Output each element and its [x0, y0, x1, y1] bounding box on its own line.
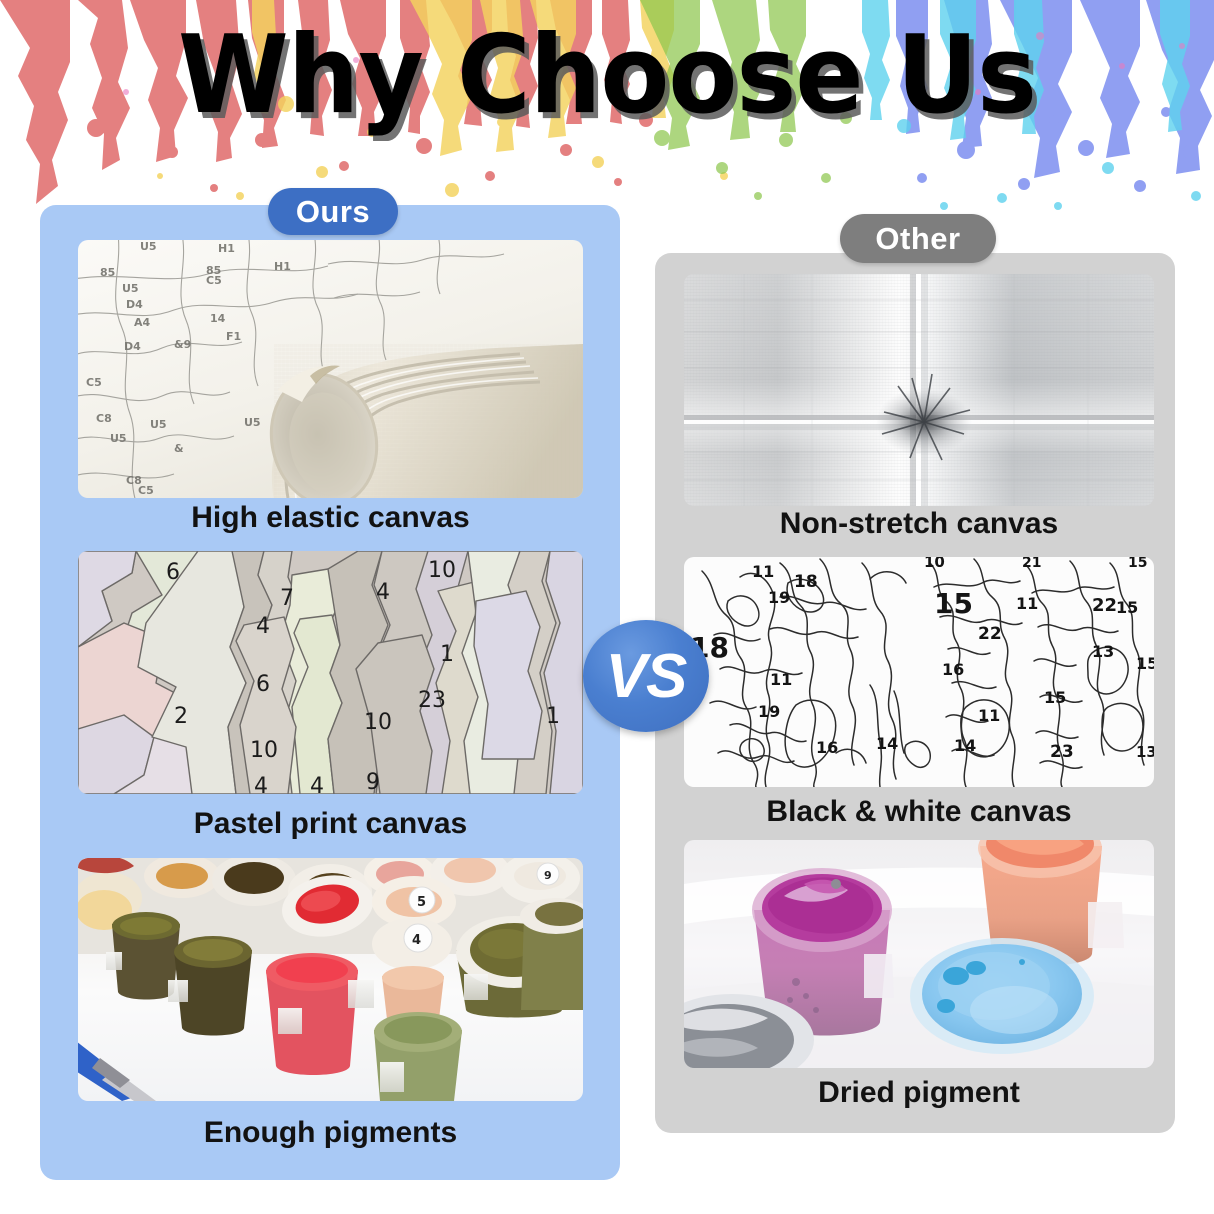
svg-text:1: 1 [440, 642, 454, 667]
svg-text:C8: C8 [96, 412, 112, 425]
badge-other: Other [840, 214, 996, 263]
svg-text:22: 22 [1092, 595, 1117, 616]
svg-text:14: 14 [210, 312, 226, 325]
svg-text:10: 10 [364, 710, 392, 735]
svg-text:14: 14 [954, 736, 976, 755]
svg-text:&9: &9 [174, 338, 191, 351]
infographic-canvas: Why Choose Us [0, 0, 1214, 1214]
svg-text:4: 4 [376, 580, 390, 605]
svg-text:4: 4 [256, 614, 270, 639]
svg-text:6: 6 [166, 560, 180, 585]
svg-text:1: 1 [546, 704, 560, 729]
svg-text:19: 19 [768, 588, 790, 607]
svg-text:F1: F1 [226, 330, 241, 343]
svg-text:D4: D4 [126, 298, 143, 311]
badge-ours: Ours [268, 188, 398, 235]
svg-text:U5: U5 [244, 416, 261, 429]
svg-text:13: 13 [1136, 743, 1154, 761]
svg-text:14: 14 [876, 734, 898, 753]
page-title: Why Choose Us [42, 22, 1171, 130]
svg-text:23: 23 [418, 688, 446, 713]
svg-text:85: 85 [100, 266, 115, 279]
svg-text:H1: H1 [218, 242, 235, 255]
svg-text:U5: U5 [150, 418, 167, 431]
image-pastel-print-canvas: 6 4 7 6 2 10 4 4 4 10 9 10 1 23 1 [78, 551, 583, 794]
svg-text:23: 23 [1050, 742, 1074, 762]
image-full-paint-pots: 9 [78, 858, 583, 1101]
caption-high-elastic-canvas: High elastic canvas [78, 503, 583, 533]
image-wrinkled-canvas [684, 274, 1154, 506]
image-dried-paint-pots [684, 840, 1154, 1068]
svg-text:6: 6 [256, 672, 270, 697]
svg-text:A4: A4 [134, 316, 151, 329]
vs-badge: VS [583, 620, 709, 732]
caption-non-stretch-canvas: Non-stretch canvas [684, 509, 1154, 539]
svg-text:15: 15 [1136, 654, 1154, 673]
svg-text:11: 11 [770, 670, 792, 689]
svg-text:C5: C5 [138, 484, 154, 497]
svg-text:U5: U5 [110, 432, 127, 445]
svg-text:15: 15 [1128, 557, 1147, 571]
svg-text:11: 11 [752, 562, 774, 581]
svg-text:4: 4 [254, 774, 268, 794]
svg-text:U5: U5 [140, 240, 157, 253]
svg-text:22: 22 [978, 624, 1002, 644]
svg-text:9: 9 [544, 869, 552, 882]
svg-text:15: 15 [934, 587, 973, 620]
svg-text:2: 2 [174, 704, 188, 729]
svg-text:5: 5 [417, 895, 426, 910]
svg-text:85: 85 [206, 264, 221, 277]
svg-text:19: 19 [758, 702, 780, 721]
image-black-white-canvas: 18 11 19 18 11 19 16 14 15 22 16 11 14 1… [684, 557, 1154, 787]
svg-text:C5: C5 [86, 376, 102, 389]
image-rolled-canvas: 85 U5 D4 A4 D4 C5 C8 U5 U5 & C8 U5 &9 14… [78, 240, 583, 498]
svg-text:11: 11 [978, 706, 1000, 725]
svg-text:18: 18 [794, 572, 818, 592]
svg-text:7: 7 [280, 586, 294, 611]
svg-text:D4: D4 [124, 340, 141, 353]
svg-text:16: 16 [942, 660, 964, 679]
caption-black-white-canvas: Black & white canvas [684, 797, 1154, 827]
svg-text:13: 13 [1092, 642, 1114, 661]
svg-text:10: 10 [924, 557, 945, 571]
caption-dried-pigment: Dried pigment [684, 1078, 1154, 1108]
svg-text:10: 10 [250, 738, 278, 763]
svg-text:4: 4 [310, 774, 324, 794]
svg-text:4: 4 [412, 933, 421, 948]
svg-text:9: 9 [366, 770, 380, 794]
svg-text:&: & [174, 442, 184, 455]
caption-pastel-print-canvas: Pastel print canvas [78, 809, 583, 839]
svg-text:11: 11 [1016, 594, 1038, 613]
caption-enough-pigments: Enough pigments [78, 1118, 583, 1148]
svg-text:15: 15 [1116, 598, 1138, 617]
svg-text:16: 16 [816, 738, 838, 757]
svg-text:15: 15 [1044, 688, 1066, 707]
svg-text:10: 10 [428, 558, 456, 583]
svg-text:21: 21 [1022, 557, 1041, 571]
svg-text:H1: H1 [274, 260, 291, 273]
svg-text:U5: U5 [122, 282, 139, 295]
